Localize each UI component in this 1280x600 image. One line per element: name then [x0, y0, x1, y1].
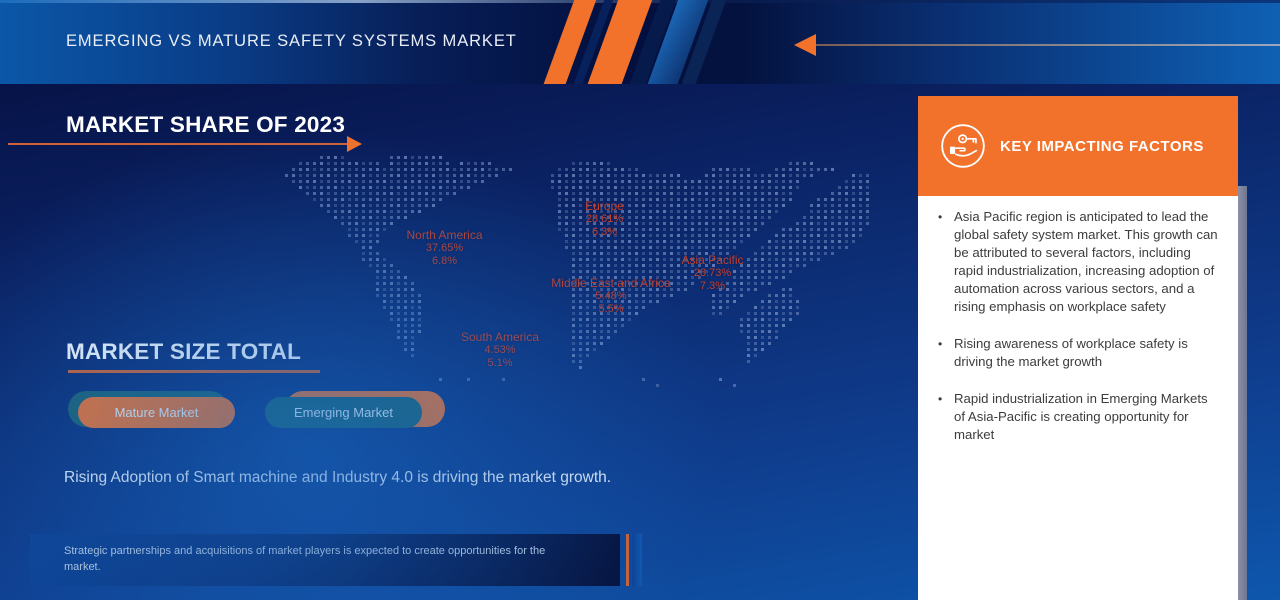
map-label-south-america: South America 4.53% 5.1%: [440, 330, 560, 370]
region-share: 4.53%: [440, 344, 560, 357]
legend-mature-label[interactable]: Mature Market: [78, 397, 235, 428]
map-label-middle-east-africa: Middle East and Africa 5.48% 5.5%: [530, 276, 692, 316]
bullet-marker: •: [938, 390, 954, 444]
map-label-europe: Europe 28.61% 6.3%: [552, 199, 657, 239]
region-share: 5.48%: [530, 290, 692, 303]
panel-title: KEY IMPACTING FACTORS: [1000, 138, 1204, 155]
region-name: North America: [372, 228, 517, 242]
region-name: Europe: [552, 199, 657, 213]
market-size-underline: [68, 370, 320, 373]
arrow-left-line: [816, 44, 1280, 46]
list-item: • Asia Pacific region is anticipated to …: [938, 208, 1220, 316]
region-cagr: 5.1%: [440, 357, 560, 370]
arrow-left-icon: [794, 34, 816, 56]
region-share: 28.61%: [552, 213, 657, 226]
bullet-marker: •: [938, 208, 954, 316]
region-name: Asia Pacific: [655, 253, 770, 267]
lead-paragraph: Rising Adoption of Smart machine and Ind…: [64, 468, 624, 488]
list-item-text: Rising awareness of workplace safety is …: [954, 335, 1220, 371]
region-name: South America: [440, 330, 560, 344]
panel-shadow: [1238, 186, 1247, 600]
hand-holding-key-icon: [940, 123, 986, 169]
market-share-rule-arrow: [8, 143, 348, 145]
header-band: EMERGING VS MATURE SAFETY SYSTEMS MARKET: [0, 0, 1280, 84]
region-cagr: 6.8%: [372, 255, 517, 268]
list-item-text: Rapid industrialization in Emerging Mark…: [954, 390, 1220, 444]
market-size-heading: MARKET SIZE TOTAL: [66, 339, 301, 365]
list-item: • Rising awareness of workplace safety i…: [938, 335, 1220, 371]
region-share: 37.65%: [372, 242, 517, 255]
region-name: Middle East and Africa: [530, 276, 692, 290]
infographic-canvas: EMERGING VS MATURE SAFETY SYSTEMS MARKET…: [0, 0, 1280, 600]
legend-emerging-label[interactable]: Emerging Market: [265, 397, 422, 428]
key-factors-panel: KEY IMPACTING FACTORS • Asia Pacific reg…: [918, 96, 1238, 600]
bottom-note-text: Strategic partnerships and acquisitions …: [64, 544, 584, 576]
map-label-north-america: North America 37.65% 6.8%: [372, 228, 517, 268]
region-cagr: 5.5%: [530, 303, 692, 316]
list-item: • Rapid industrialization in Emerging Ma…: [938, 390, 1220, 444]
key-factors-list: • Asia Pacific region is anticipated to …: [918, 208, 1238, 462]
bottom-accent-line: [626, 534, 629, 586]
panel-header: KEY IMPACTING FACTORS: [918, 96, 1238, 196]
bullet-marker: •: [938, 335, 954, 371]
bottom-tail-block: [632, 534, 642, 586]
page-title: EMERGING VS MATURE SAFETY SYSTEMS MARKET: [66, 32, 517, 51]
list-item-text: Asia Pacific region is anticipated to le…: [954, 208, 1220, 316]
market-share-heading: MARKET SHARE OF 2023: [66, 112, 345, 138]
region-cagr: 6.3%: [552, 226, 657, 239]
